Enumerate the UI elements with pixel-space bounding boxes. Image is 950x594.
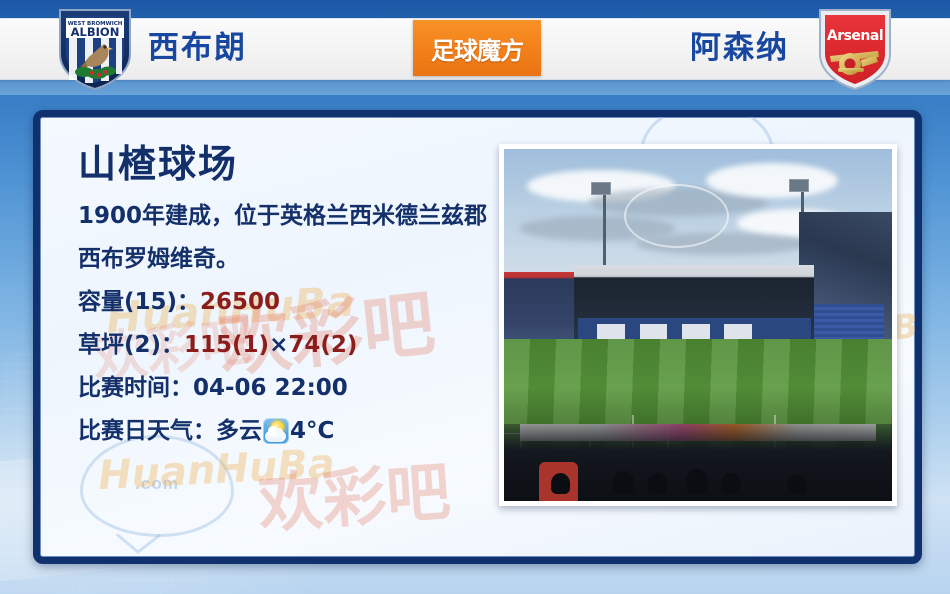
watermark-cn-text: 欢彩吧 <box>255 440 453 545</box>
photo-spectator-head <box>613 471 634 494</box>
photo-spectator-head <box>787 475 806 494</box>
home-team-name: 西布朗 <box>148 18 247 78</box>
match-time-label: 比赛时间： <box>78 375 193 401</box>
floodlight-pylon <box>603 188 606 265</box>
west-bromwich-albion-badge: WEST BROMWICH ALBION <box>52 4 138 92</box>
stadium-photo <box>504 149 892 501</box>
capacity-label: 容量(15)： <box>78 289 200 315</box>
match-header: WEST BROMWICH ALBION 西布朗 足球魔方 阿森纳 <box>0 0 950 95</box>
match-weather-value: 多云 <box>216 418 262 444</box>
svg-text:Arsenal: Arsenal <box>827 28 883 44</box>
pitch-width-value: 74(2) <box>288 332 357 358</box>
photo-centre-circle <box>624 184 729 248</box>
photo-spectator-head <box>551 473 570 494</box>
match-weather-row: 比赛日天气：多云4°C <box>78 410 498 453</box>
photo-spectator-head <box>686 469 707 494</box>
pitch-size-label: 草坪(2)： <box>78 332 184 358</box>
svg-text:ALBION: ALBION <box>71 25 120 39</box>
match-temperature: 4°C <box>290 418 334 444</box>
arsenal-badge: Arsenal <box>812 4 898 92</box>
floodlight-head <box>789 179 809 192</box>
photo-spectator-head <box>721 473 740 494</box>
match-time-value: 04-06 22:00 <box>193 375 348 401</box>
match-time-row: 比赛时间：04-06 22:00 <box>78 367 498 410</box>
site-logo[interactable]: 足球魔方 <box>413 20 541 76</box>
stadium-description: 1900年建成，位于英格兰西米德兰兹郡西布罗姆维奇。 <box>78 195 498 281</box>
sun-behind-cloud-icon <box>263 418 289 444</box>
watermark-domain: .com <box>83 474 231 494</box>
pitch-length-value: 115(1) <box>184 332 269 358</box>
stadium-title: 山楂球场 <box>78 145 498 185</box>
stadium-info-text: 山楂球场 1900年建成，位于英格兰西米德兰兹郡西布罗姆维奇。 容量(15)：2… <box>78 145 498 453</box>
capacity-row: 容量(15)：26500 <box>78 281 498 324</box>
pitch-size-row: 草坪(2)：115(1)×74(2) <box>78 324 498 367</box>
pitch-size-times: × <box>269 332 288 358</box>
stadium-photo-frame <box>499 144 897 506</box>
match-weather-label: 比赛日天气： <box>78 418 216 444</box>
photo-cloud <box>706 163 838 198</box>
screenshot-root: WEST BROMWICH ALBION 西布朗 足球魔方 阿森纳 <box>0 0 950 594</box>
site-logo-text: 足球魔方 <box>431 31 523 66</box>
capacity-value: 26500 <box>200 289 280 315</box>
photo-spectator-head <box>648 473 667 494</box>
floodlight-head <box>591 182 611 195</box>
away-team-name: 阿森纳 <box>690 18 789 78</box>
stadium-info-card: .com .com HuanHuBa HuanHuBa HuanHuBa 欢彩吧… <box>33 110 922 564</box>
